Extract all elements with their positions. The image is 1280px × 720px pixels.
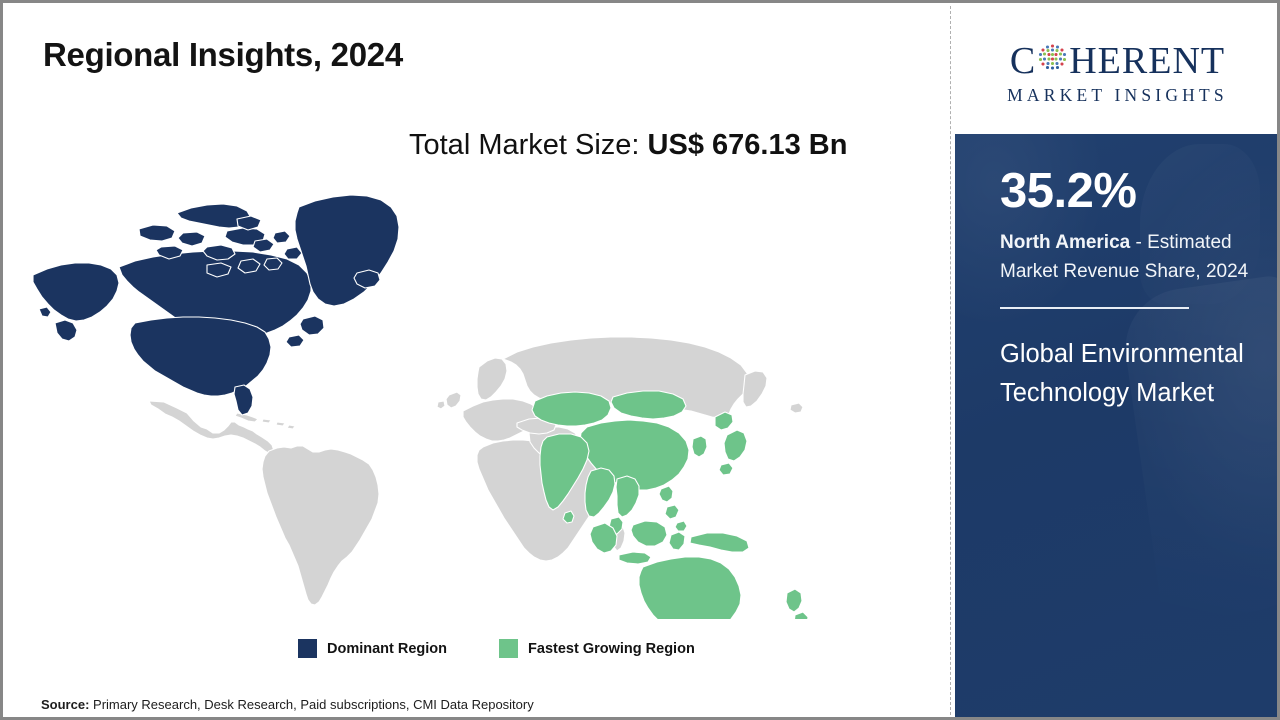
panel-divider — [950, 6, 951, 720]
source-note: Source: Primary Research, Desk Research,… — [41, 697, 534, 712]
stat-percentage: 35.2% — [1000, 167, 1254, 216]
stat-panel: 35.2% North America - Estimated Market R… — [955, 134, 1280, 720]
source-label: Source: — [41, 697, 89, 712]
left-content-panel: Regional Insights, 2024 Total Market Siz… — [3, 3, 950, 720]
map-region-north-america — [33, 195, 399, 415]
brand-name-part2: HERENT — [1069, 42, 1225, 80]
legend-label-fastest-growing: Fastest Growing Region — [528, 641, 695, 657]
brand-wordmark: C — [1010, 42, 1225, 80]
stat-region-name: North America — [1000, 232, 1130, 253]
world-map-svg — [31, 189, 861, 619]
legend-swatch-fastest-growing-icon — [499, 639, 518, 658]
stat-panel-content: 35.2% North America - Estimated Market R… — [955, 134, 1280, 414]
right-column: C — [955, 6, 1280, 720]
total-market-size: Total Market Size: US$ 676.13 Bn — [409, 129, 847, 162]
legend-swatch-dominant-icon — [298, 639, 317, 658]
market-size-label: Total Market Size: — [409, 129, 639, 161]
stat-description: North America - Estimated Market Revenue… — [1000, 229, 1254, 286]
market-size-value: US$ 676.13 Bn — [648, 129, 848, 161]
brand-logo: C — [955, 6, 1280, 134]
regional-insights-infographic: Regional Insights, 2024 Total Market Siz… — [0, 0, 1280, 720]
market-name: Global Environmental Technology Market — [1000, 335, 1245, 414]
source-text: Primary Research, Desk Research, Paid su… — [89, 697, 533, 712]
page-title: Regional Insights, 2024 — [43, 36, 403, 74]
map-legend: Dominant Region Fastest Growing Region — [298, 639, 695, 658]
brand-tagline: MARKET INSIGHTS — [1007, 87, 1228, 105]
world-map — [31, 189, 861, 619]
legend-item-dominant: Dominant Region — [298, 639, 447, 658]
stat-divider — [1000, 307, 1189, 309]
brand-name-part1: C — [1010, 42, 1036, 80]
legend-item-fastest-growing: Fastest Growing Region — [499, 639, 695, 658]
globe-icon — [1037, 42, 1068, 80]
legend-label-dominant: Dominant Region — [327, 641, 447, 657]
